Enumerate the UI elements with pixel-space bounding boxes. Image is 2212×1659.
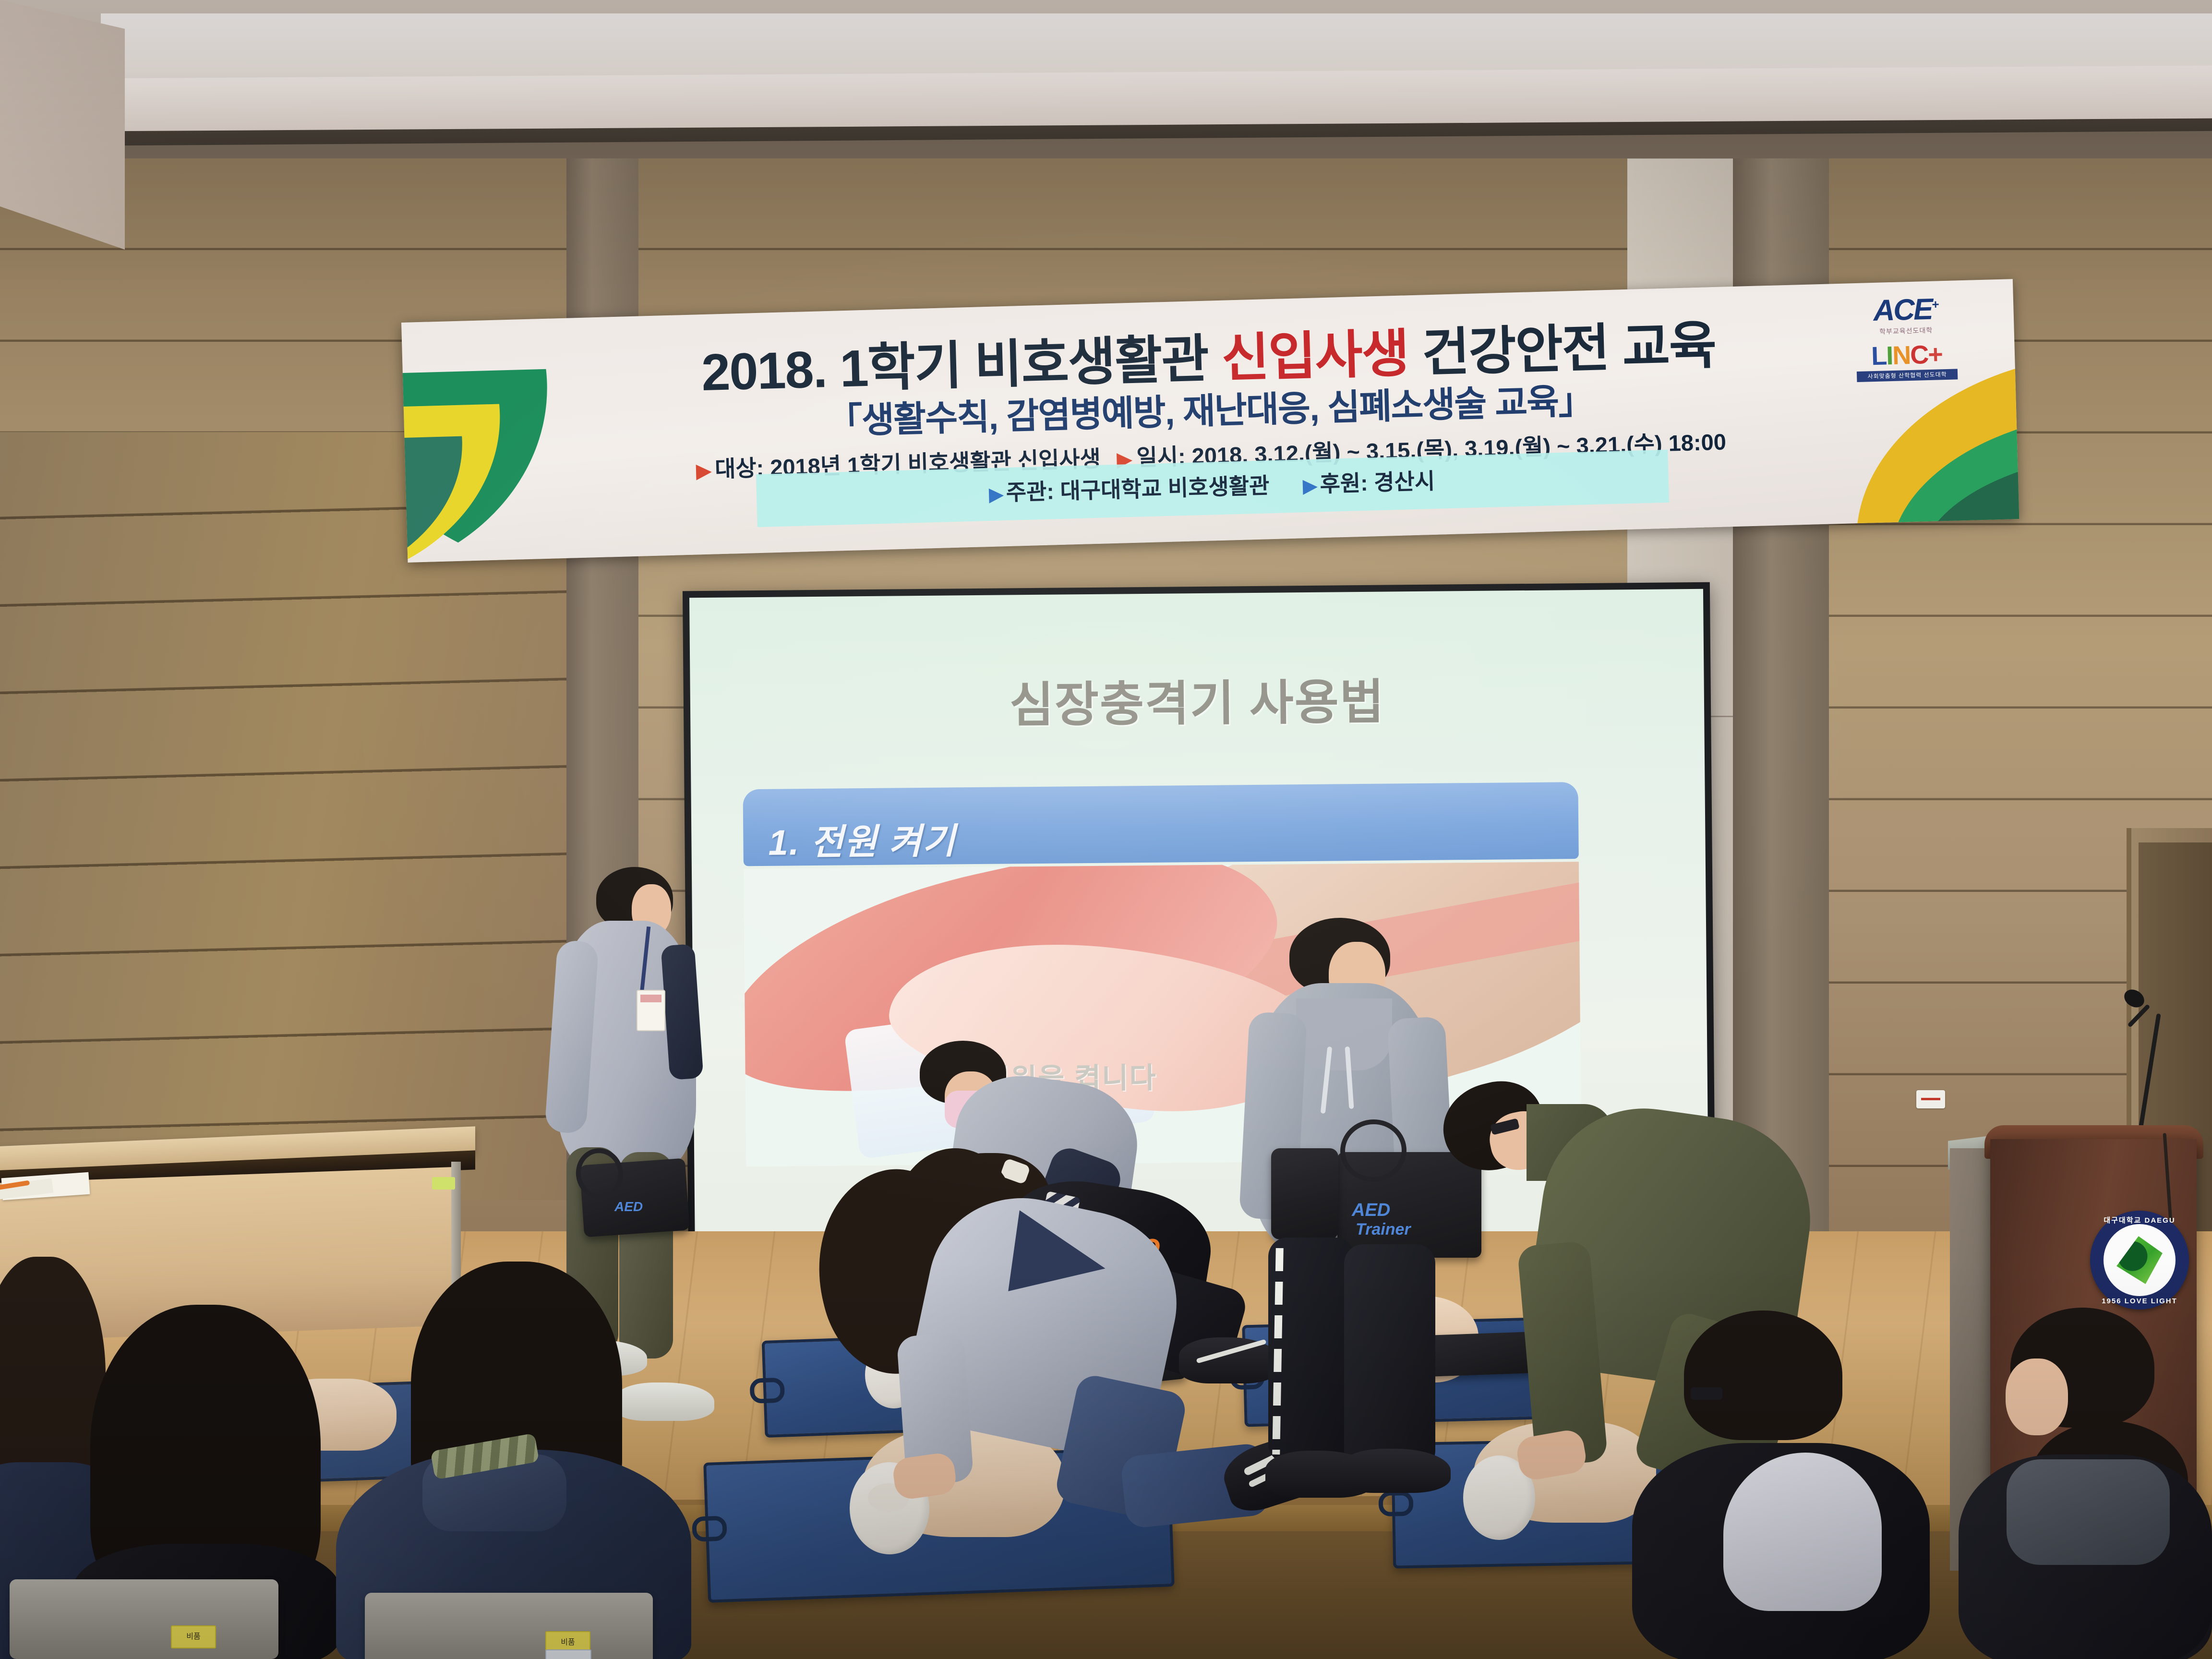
chair[interactable] xyxy=(365,1593,653,1659)
wall-light-switch[interactable] xyxy=(1916,1090,1945,1108)
triangle-bullet-icon-3: ▶ xyxy=(989,484,1003,505)
emblem-top-text: 대구대학교 DAEGU xyxy=(2090,1215,2189,1225)
aed-bag-label-line1: AED xyxy=(1352,1200,1390,1221)
university-emblem: 대구대학교 DAEGU 1956 LOVE LIGHT xyxy=(2090,1211,2189,1310)
ace-logo-plus: + xyxy=(1932,297,1938,312)
linc-letter-l: L xyxy=(1871,341,1887,371)
hood xyxy=(1296,998,1392,1070)
training-session-photo: 2018. 1학기 비호생활관 신입사생 건강안전 교육 「생활수칙, 감염병예… xyxy=(0,0,2212,1659)
sneaker xyxy=(1179,1337,1280,1383)
banner-logos: ACE+ 학부교육선도대학 LINC+ 사회맞춤형 산학협력 선도대학 xyxy=(1855,294,1958,382)
ace-logo-subtitle: 학부교육선도대학 xyxy=(1855,325,1956,337)
slide-title: 심장충격기 사용법 xyxy=(690,660,1704,738)
linc-letter-c: C xyxy=(1910,340,1928,370)
chair-asset-tag-2 xyxy=(545,1649,591,1659)
aed-case-on-floor xyxy=(1420,1332,1542,1377)
triangle-bullet-icon-4: ▶ xyxy=(1303,476,1317,497)
ace-logo: ACE+ xyxy=(1855,294,1957,326)
sneaker xyxy=(615,1382,714,1421)
eyeglasses-icon xyxy=(1691,1387,1722,1400)
banner-host-text: 주관: 대구대학교 비호생활관 xyxy=(1006,473,1270,505)
chair-asset-tag: 비품 xyxy=(171,1625,216,1648)
banner-sponsor-text: 후원: 경산시 xyxy=(1320,469,1435,496)
triangle-bullet-icon: ▶ xyxy=(696,460,711,482)
linc-logo: LINC+ xyxy=(1856,341,1957,370)
linc-letter-n: N xyxy=(1892,341,1911,370)
hood xyxy=(2007,1459,2170,1565)
name-badge xyxy=(637,990,665,1031)
track-pants-right xyxy=(1344,1244,1435,1470)
aed-bag-label: AED xyxy=(614,1199,643,1214)
aed-bag-side xyxy=(1271,1148,1338,1239)
linc-letter-plus: + xyxy=(1927,340,1942,369)
chair[interactable] xyxy=(10,1579,278,1659)
white-hood xyxy=(1723,1453,1882,1611)
ace-logo-text: ACE xyxy=(1873,293,1932,327)
table-asset-tag xyxy=(432,1177,455,1190)
emblem-bottom-text: 1956 LOVE LIGHT xyxy=(2090,1297,2189,1305)
slide-sandal-2 xyxy=(1340,1449,1451,1493)
event-banner: 2018. 1학기 비호생활관 신입사생 건강안전 교육 「생활수칙, 감염병예… xyxy=(401,279,2019,563)
aed-bag-label-line2: Trainer xyxy=(1356,1220,1411,1239)
slide-step-label: 1. 전원 켜기 xyxy=(768,812,956,865)
